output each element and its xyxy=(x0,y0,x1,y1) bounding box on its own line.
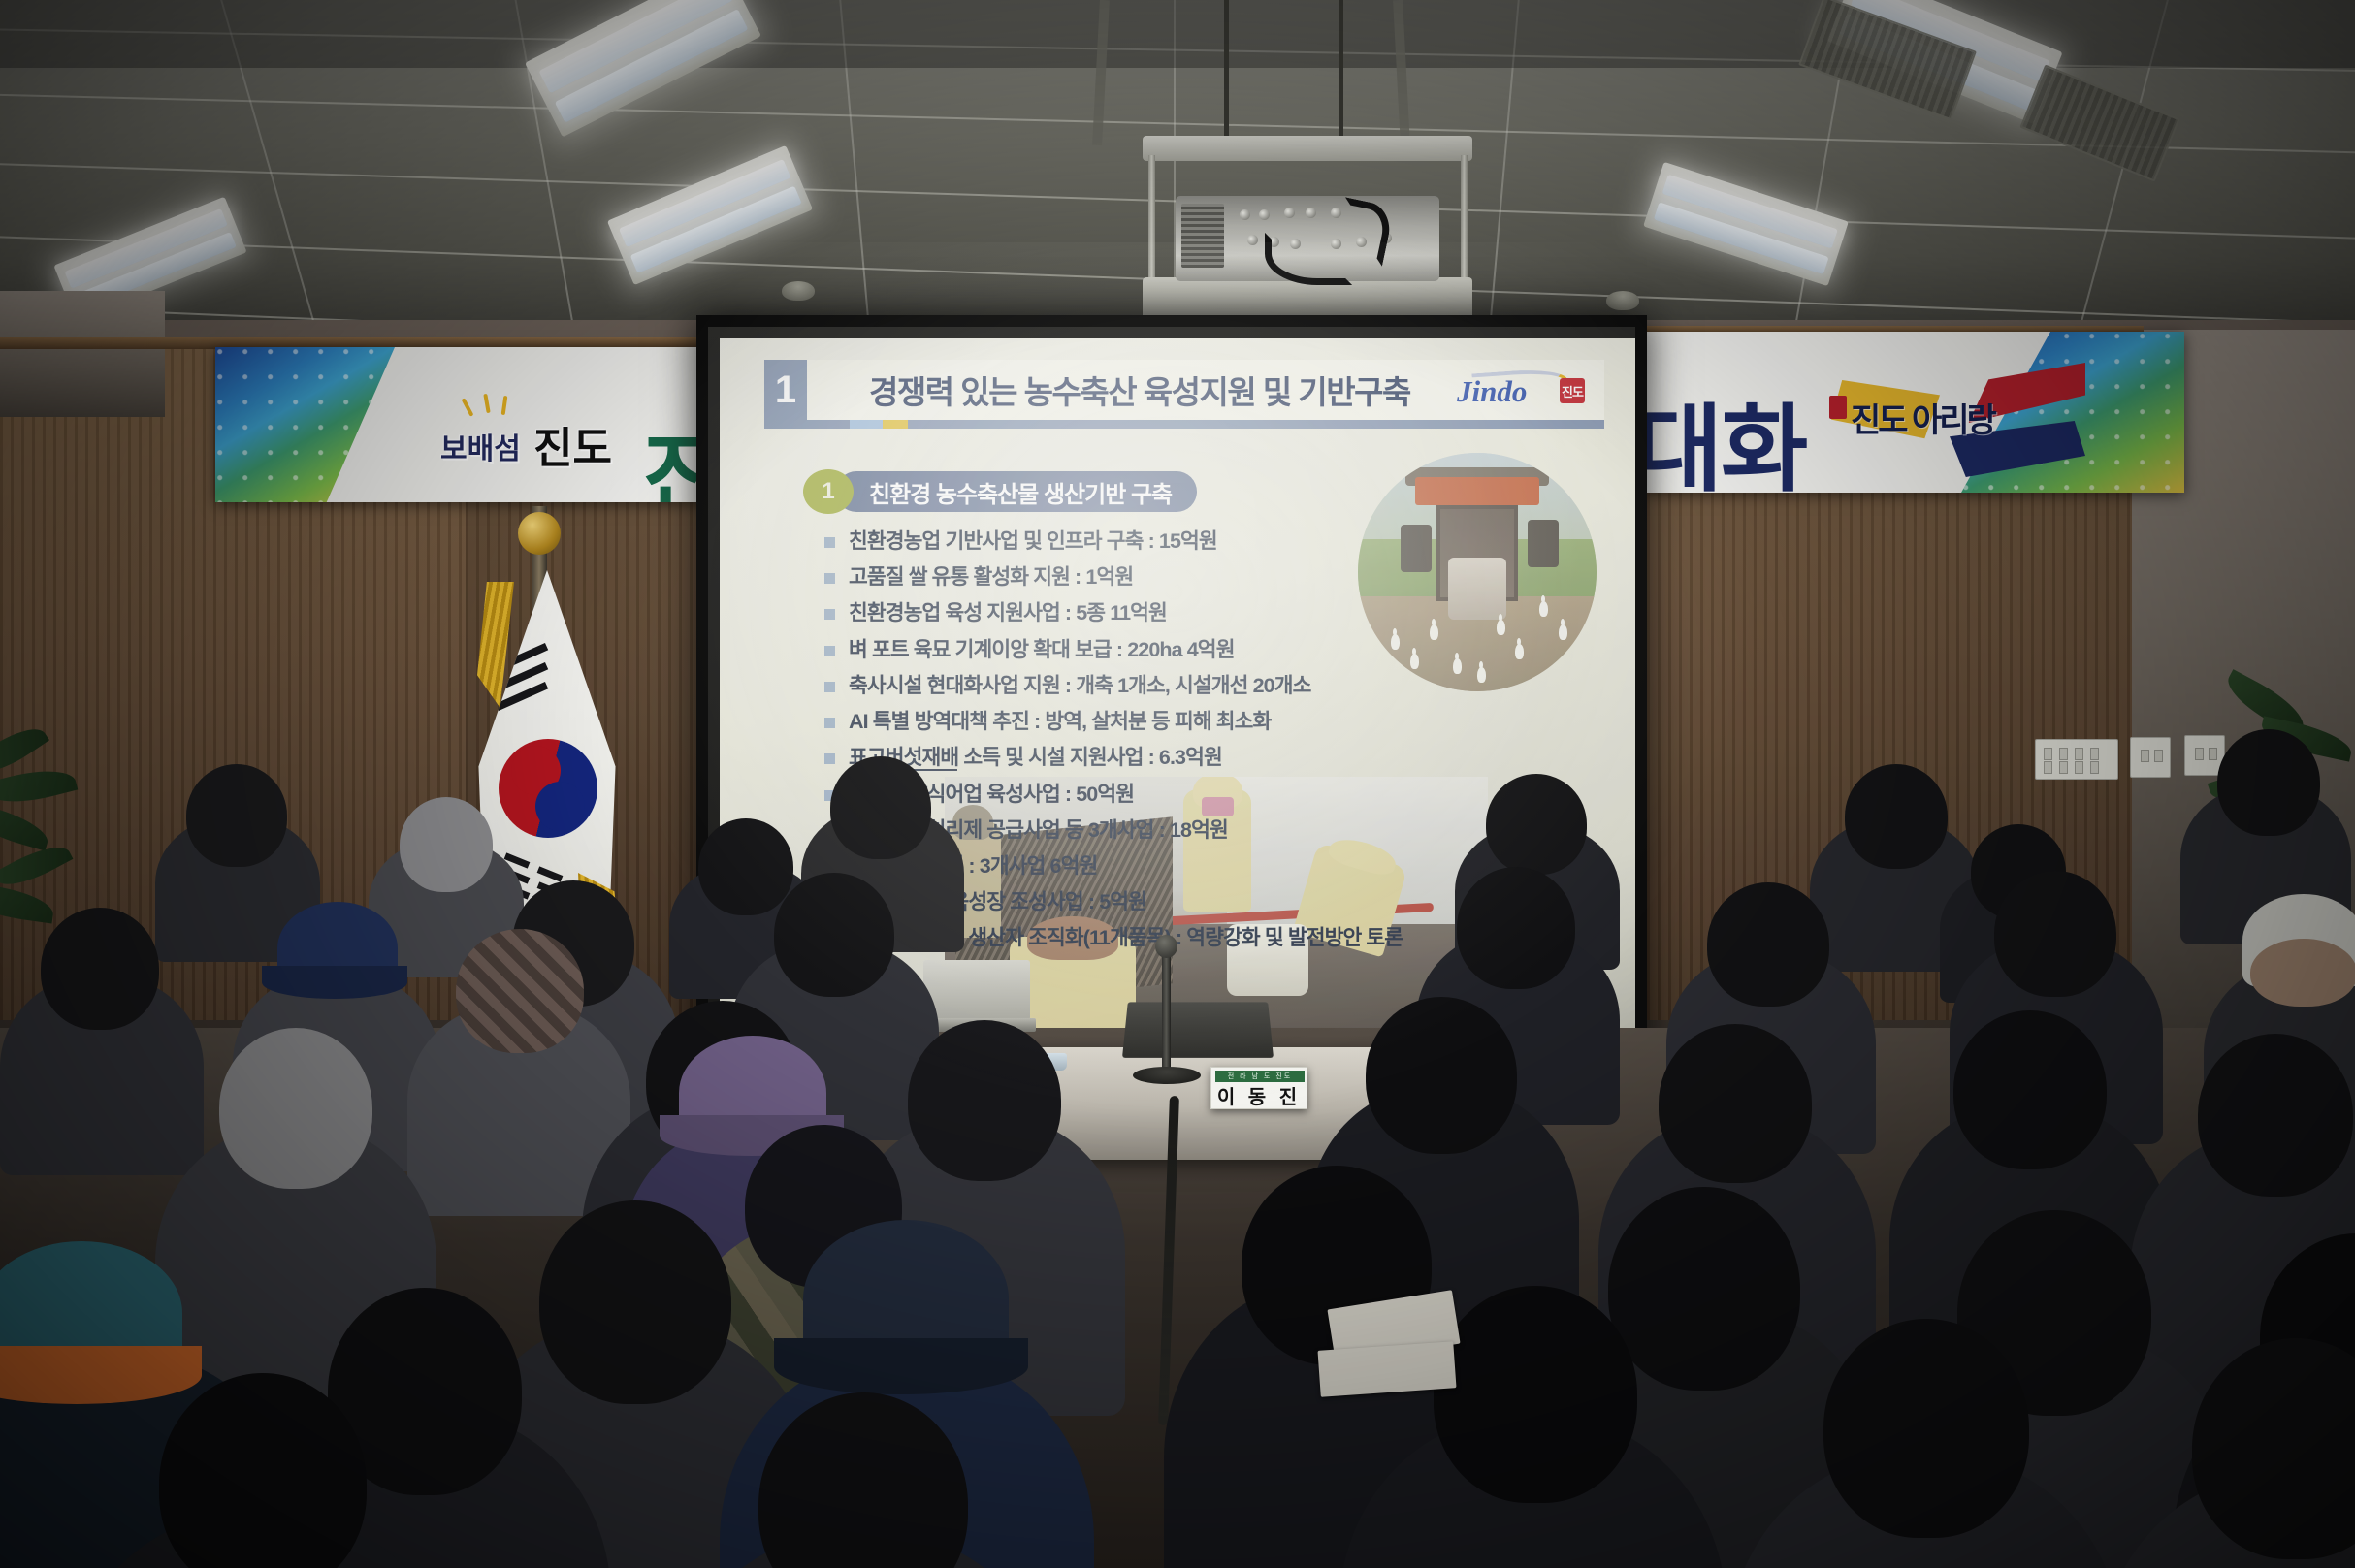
subheading-number: 1 xyxy=(803,469,854,514)
arirang-logo-text: 진도 아리랑 xyxy=(1851,394,1994,441)
audience-member-head xyxy=(1953,1010,2107,1169)
bullet-item: AI 특별 방역대책 추진 : 방역, 살처분 등 피해 최소화 xyxy=(824,709,1503,734)
audience-member-head xyxy=(219,1028,372,1189)
jindo-logo: Jindo 진도 xyxy=(1455,368,1591,411)
painted-wall xyxy=(0,291,165,417)
presentation-room-photo: 보배섬 진도 진도 대화 진도 아리랑 xyxy=(0,0,2355,1568)
projector xyxy=(1176,196,1439,281)
banner-left-logo-big: 진도 xyxy=(533,413,612,475)
bullet-item: 친환경농업 육성 지원사업 : 5종 11억원 xyxy=(824,600,1503,625)
slide-title: 경쟁력 있는 농수축산 육성지원 및 기반구축 xyxy=(848,367,1455,413)
slide-header: 1 경쟁력 있는 농수축산 육성지원 및 기반구축 Jindo 진도 xyxy=(764,360,1604,420)
bullet-marker-icon xyxy=(824,718,835,728)
bullet-marker-icon xyxy=(824,537,835,548)
audience-member-head xyxy=(908,1020,1061,1181)
audience-member-head xyxy=(186,764,287,867)
right-wall-banner: 대화 진도 아리랑 xyxy=(1641,332,2184,493)
jindo-logo-text: Jindo xyxy=(1457,374,1527,409)
smoke-detector xyxy=(1606,291,1639,310)
audience-member-head xyxy=(41,908,159,1030)
bullet-marker-icon xyxy=(824,753,835,764)
audience-member-head xyxy=(2250,939,2355,1007)
bullet-item: 축사시설 현대화사업 지원 : 개축 1개소, 시설개선 20개소 xyxy=(824,673,1503,698)
audience-member-head xyxy=(400,797,493,892)
audience xyxy=(0,834,2355,1568)
bullet-marker-icon xyxy=(824,682,835,692)
banner-decoration xyxy=(215,347,395,502)
bullet-item: 벼 포트 육묘 기계이앙 확대 보급 : 220ha 4억원 xyxy=(824,637,1503,662)
audience-member-head xyxy=(1608,1187,1800,1391)
taeguk-circle xyxy=(499,739,597,838)
audience-member-head xyxy=(1994,871,2116,997)
subheading-label: 친환경 농수축산물 생산기반 구축 xyxy=(836,471,1197,512)
banner-left-logo-small: 보배섬 xyxy=(440,425,521,467)
audience-member-head xyxy=(1659,1024,1812,1183)
bullet-item: 친환경농업 기반사업 및 인프라 구축 : 15억원 xyxy=(824,528,1503,554)
audience-member-head xyxy=(1434,1286,1637,1503)
light-switch-plate[interactable] xyxy=(2130,737,2171,778)
bullet-marker-icon xyxy=(824,646,835,656)
jindo-arirang-logo: 진도 아리랑 xyxy=(1823,355,2105,481)
bullet-marker-icon xyxy=(824,609,835,620)
slide-header-underline xyxy=(764,420,1604,429)
light-switch-plate[interactable] xyxy=(2035,739,2118,780)
bullet-marker-icon xyxy=(824,573,835,584)
audience-member-head xyxy=(456,929,584,1053)
left-wall-banner: 보배섬 진도 진도 xyxy=(215,347,729,502)
cap-brim xyxy=(262,966,407,999)
audience-member-head xyxy=(1457,867,1575,989)
audience-member-head xyxy=(1366,997,1517,1154)
slide-subheading: 1 친환경 농수축산물 생산기반 구축 xyxy=(803,470,1197,513)
cap-brim xyxy=(774,1338,1028,1394)
bullet-item: 고품질 쌀 유통 활성화 지원 : 1억원 xyxy=(824,564,1503,590)
audience-member-head xyxy=(2217,729,2320,836)
audience-member-head xyxy=(830,756,931,859)
audience-member-head xyxy=(698,818,793,915)
audience-member-head xyxy=(539,1200,731,1404)
jindo-logo-badge: 진도 xyxy=(1560,378,1585,403)
audience-member-head xyxy=(1823,1319,2029,1538)
handout-paper xyxy=(1317,1341,1456,1397)
smoke-detector xyxy=(782,281,815,301)
audience-member-head xyxy=(1707,882,1829,1007)
ceiling-projector-mount xyxy=(1143,136,1472,320)
audience-member-head xyxy=(2198,1034,2353,1197)
flag-finial-ball xyxy=(518,512,561,555)
audience-member-head xyxy=(1486,774,1587,875)
bullet-item: 표고버섯재배 소득 및 시설 지원사업 : 6.3억원 xyxy=(824,745,1503,770)
audience-member-head xyxy=(1845,764,1948,869)
audience-member-head xyxy=(774,873,894,997)
banner-right-headline: 대화 xyxy=(1641,372,1806,493)
slide-section-number: 1 xyxy=(764,360,807,420)
